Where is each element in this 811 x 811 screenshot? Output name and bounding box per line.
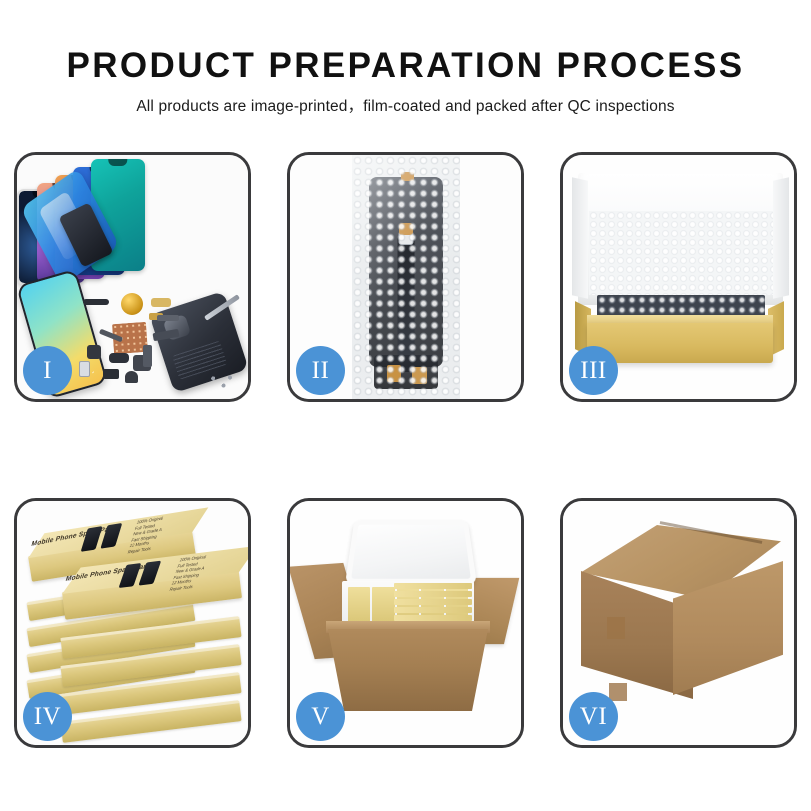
yellow-box-front (587, 323, 773, 363)
carton-tape-upper (607, 617, 625, 639)
button-flex-part (103, 369, 119, 379)
sensor-flex-part (157, 315, 179, 321)
white-foam-sheet (589, 211, 773, 295)
process-step-2[interactable]: II (287, 152, 524, 402)
process-step-6[interactable]: VI (560, 498, 797, 748)
process-step-4[interactable]: Mobile Phone Spare Parts 100% Original F… (14, 498, 251, 748)
vibrator-motor-part (87, 345, 101, 359)
step-badge-2: II (296, 346, 345, 395)
yellow-box-item (372, 587, 394, 625)
page-title: PRODUCT PREPARATION PROCESS (0, 46, 811, 86)
step-badge-5: V (296, 692, 345, 741)
yellow-box-item (394, 607, 472, 613)
process-step-3[interactable]: III (560, 152, 797, 402)
process-step-5[interactable]: V (287, 498, 524, 748)
sim-tray-part (79, 361, 90, 377)
yellow-box-item (348, 587, 370, 625)
plastic-gloss-highlight (352, 155, 460, 399)
page-subtitle: All products are image-printed，film-coat… (0, 94, 811, 116)
carton-body (328, 629, 488, 711)
header: PRODUCT PREPARATION PROCESS All products… (0, 0, 811, 116)
process-step-1[interactable]: I (14, 152, 251, 402)
screws-group (208, 373, 234, 391)
process-step-grid: I II (14, 152, 798, 748)
step-badge-6: VI (569, 692, 618, 741)
yellow-box-item (394, 599, 472, 605)
carton-tape-lower (609, 683, 627, 701)
metal-bracket-part (143, 345, 152, 367)
camera-module-part (125, 371, 138, 383)
charging-port-part (109, 353, 129, 363)
camera-lens-part (121, 293, 143, 315)
phone-notch (108, 159, 127, 166)
earpiece-speaker-part (83, 299, 109, 305)
yellow-box-item (394, 591, 472, 597)
step-badge-4: IV (23, 692, 72, 741)
foam-lid (345, 521, 477, 585)
product-preparation-infographic: PRODUCT PREPARATION PROCESS All products… (0, 0, 811, 811)
gold-flex-part (151, 298, 171, 307)
step-badge-3: III (569, 346, 618, 395)
bubble-wrap-bag (352, 155, 460, 399)
yellow-box-item (394, 583, 472, 589)
step-badge-1: I (23, 346, 72, 395)
